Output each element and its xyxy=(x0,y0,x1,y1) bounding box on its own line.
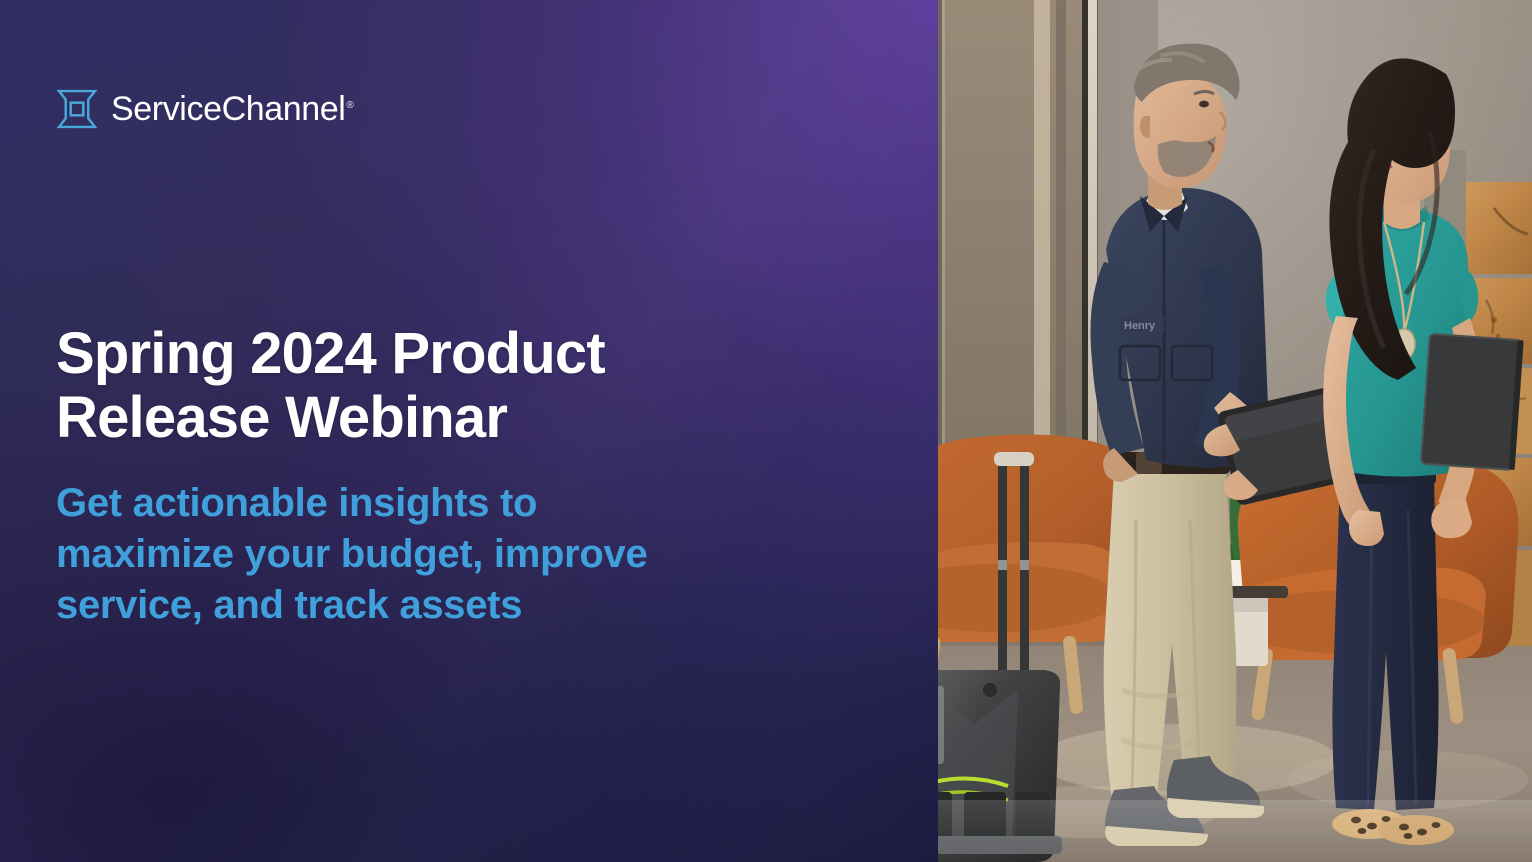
servicechannel-bowtie-logo-icon xyxy=(56,88,98,130)
hero-photo: Henry xyxy=(938,0,1532,862)
brand-name: ServiceChannel xyxy=(111,90,345,128)
page-subtitle: Get actionable insights to maximize your… xyxy=(56,478,756,632)
brand-logo[interactable]: ServiceChannel® xyxy=(56,88,353,130)
brand-wordmark: ServiceChannel® xyxy=(111,92,353,126)
webinar-title-slide: ServiceChannel® Spring 2024 Product Rele… xyxy=(0,0,1532,862)
hero-copy: Spring 2024 Product Release Webinar Get … xyxy=(56,322,756,631)
hero-panel: ServiceChannel® Spring 2024 Product Rele… xyxy=(0,0,938,862)
registered-trademark-icon: ® xyxy=(346,100,353,111)
lobby-scene-illustration: Henry xyxy=(938,0,1532,862)
page-title: Spring 2024 Product Release Webinar xyxy=(56,322,756,450)
